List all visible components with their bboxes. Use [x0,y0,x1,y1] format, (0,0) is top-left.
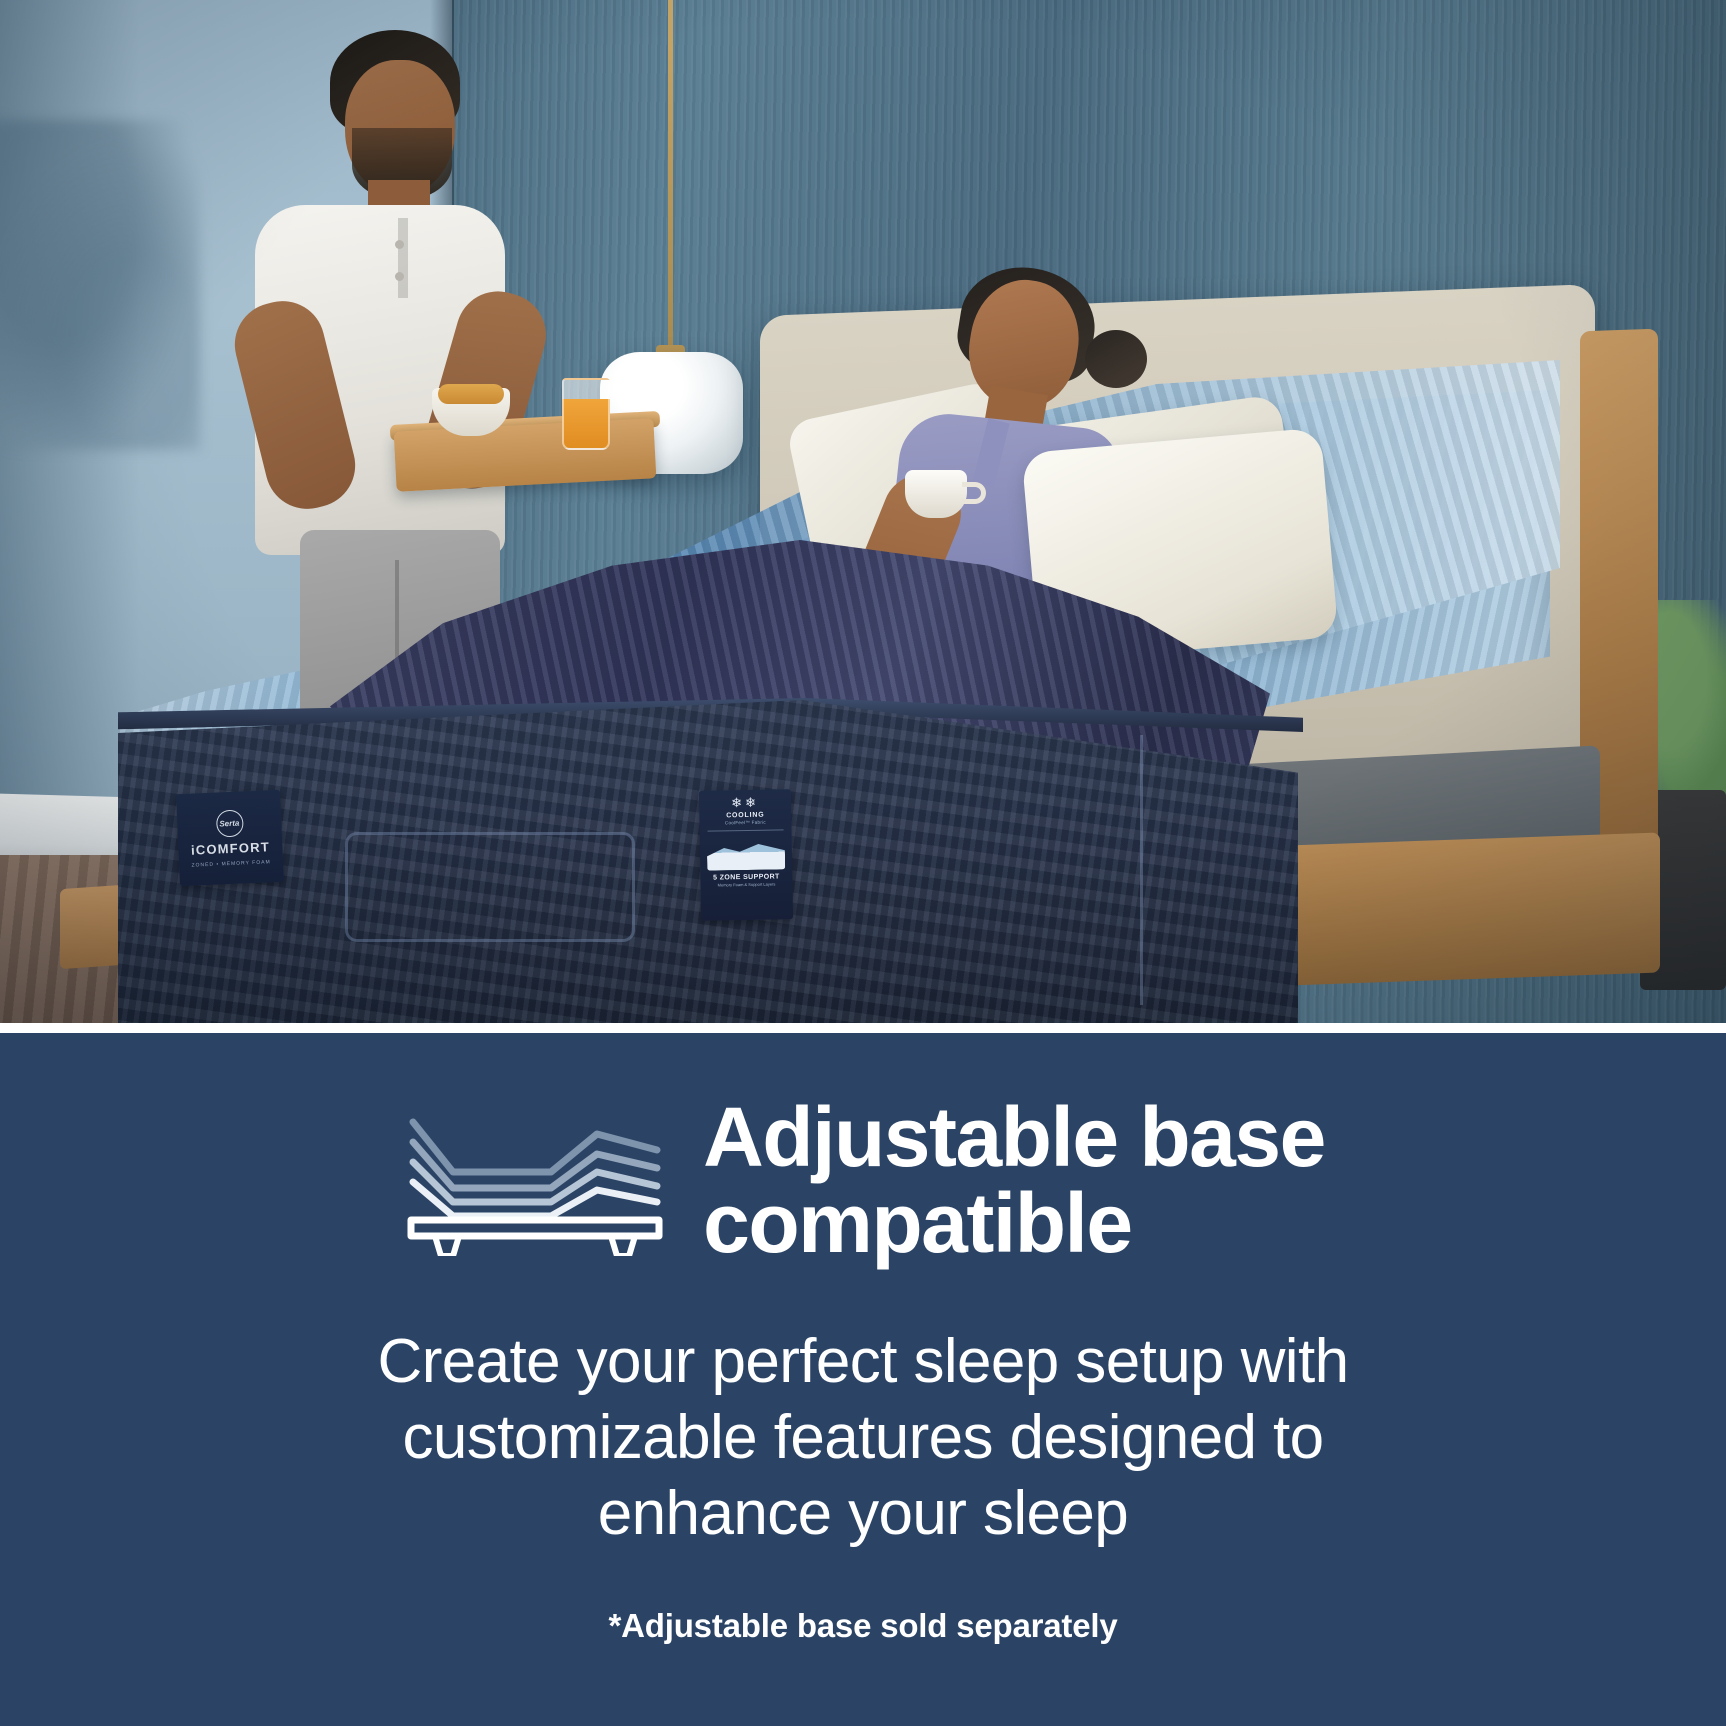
body-line-1: Create your perfect sleep setup with [378,1324,1349,1400]
bowl-contents [438,384,504,404]
lifestyle-photo: Serta iCOMFORT ZONED • MEMORY FOAM ❄❄ CO… [0,0,1726,1023]
zone-support-subtitle: Memory Foam & Support Layers [700,881,792,888]
man-shirt-button [395,272,404,281]
woman-hair-bun [1085,330,1147,388]
foliage-shadow [0,120,200,450]
feature-description: Create your perfect sleep setup with cus… [378,1324,1349,1551]
snowflake-icon: ❄❄ [699,795,791,810]
disclaimer-footnote: *Adjustable base sold separately [609,1607,1118,1645]
serta-logo-mark: Serta [215,809,243,837]
headline-row: Adjustable base compatible [0,1095,1726,1266]
man-shirt-placket [398,218,408,298]
mattress-cutaway-illustration [707,835,786,870]
icomfort-tagline: ZONED • MEMORY FOAM [191,859,270,868]
promo-card: Serta iCOMFORT ZONED • MEMORY FOAM ❄❄ CO… [0,0,1726,1726]
adjustable-base-icon [401,1106,669,1256]
serta-icomfort-label: Serta iCOMFORT ZONED • MEMORY FOAM [176,790,284,886]
body-line-3: enhance your sleep [378,1476,1349,1552]
cooling-zone-label: ❄❄ COOLING CoolFeel™ Fabric 5 ZONE SUPPO… [699,789,793,921]
mattress-handle-seam [345,832,635,942]
feature-message-panel: Adjustable base compatible Create your p… [0,1033,1726,1726]
pendant-lamp-cord [668,0,673,355]
headline-line-2: compatible [703,1181,1325,1267]
label-divider [708,829,784,831]
page-title: Adjustable base compatible [703,1095,1325,1266]
headline-line-1: Adjustable base [703,1095,1325,1181]
icomfort-wordmark: iCOMFORT [191,839,271,857]
orange-juice-glass [562,378,610,450]
section-divider [0,1023,1726,1033]
cooling-subtitle: CoolFeel™ Fabric [699,819,791,826]
mattress-vertical-seam [1140,735,1143,1005]
body-line-2: customizable features designed to [378,1400,1349,1476]
coffee-mug [905,470,967,518]
man-shirt-button [395,240,404,249]
coffee-mug-handle [962,482,986,504]
